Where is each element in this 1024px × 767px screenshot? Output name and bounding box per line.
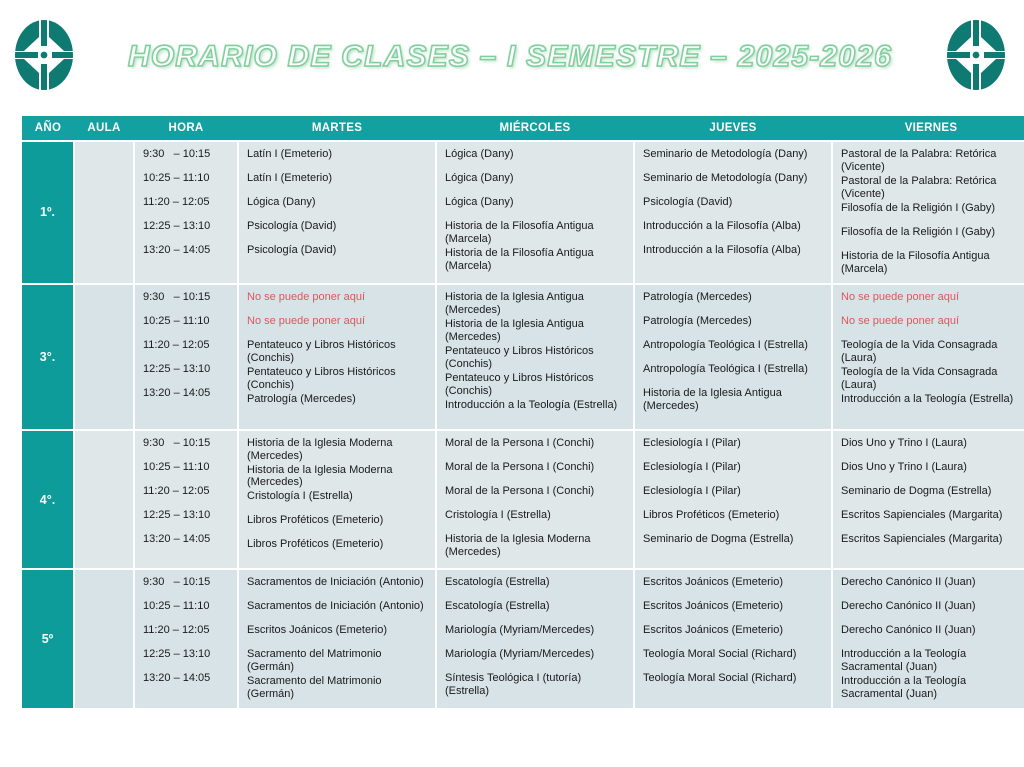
class-slot: Eclesiología I (Pilar) [643, 437, 825, 460]
class-slot: Introducción a la Teología Sacramental (… [841, 675, 1024, 701]
table-row: 4°.9:30 – 10:1510:25 – 11:1011:20 – 12:0… [22, 430, 1024, 570]
class-slot: Filosofía de la Religión I (Gaby) [841, 202, 1024, 225]
class-slot: Escritos Sapienciales (Margarita) [841, 533, 1024, 556]
class-slot: Libros Proféticos (Emeterio) [643, 509, 825, 532]
time-slot: 11:20 – 12:05 [143, 485, 231, 508]
class-slot: Teología Moral Social (Richard) [643, 648, 825, 671]
time-slot: 11:20 – 12:05 [143, 339, 231, 362]
class-slot: Introducción a la Teología (Estrella) [445, 399, 627, 422]
aula-cell [74, 569, 134, 709]
day-cell-martes: Latín I (Emeterio)Latín I (Emeterio)Lógi… [238, 141, 436, 284]
class-slot: Moral de la Persona I (Conchi) [445, 485, 627, 508]
class-slot: Seminario de Dogma (Estrella) [841, 485, 1024, 508]
time-slot: 10:25 – 11:10 [143, 461, 231, 484]
class-slot: Cristología I (Estrella) [445, 509, 627, 532]
class-slot: Síntesis Teológica I (tutoría) (Estrella… [445, 672, 627, 698]
class-slot: Historia de la Iglesia Antigua (Mercedes… [445, 291, 627, 317]
day-cell-viernes: No se puede poner aquíNo se puede poner … [832, 284, 1024, 430]
time-slot: 10:25 – 11:10 [143, 600, 231, 623]
day-cell-martes: No se puede poner aquíNo se puede poner … [238, 284, 436, 430]
class-slot: Psicología (David) [247, 220, 429, 243]
class-slot: Lógica (Dany) [445, 172, 627, 195]
class-slot: Escritos Joánicos (Emeterio) [643, 624, 825, 647]
year-label: 4°. [22, 430, 74, 570]
class-slot: Psicología (David) [247, 244, 429, 267]
time-slot: 12:25 – 13:10 [143, 363, 231, 386]
class-slot: Lógica (Dany) [445, 196, 627, 219]
column-header-aula: AULA [74, 116, 134, 141]
blocked-slot: No se puede poner aquí [841, 315, 1024, 338]
class-slot: Dios Uno y Trino I (Laura) [841, 437, 1024, 460]
day-cell-miercoles: Escatología (Estrella)Escatología (Estre… [436, 569, 634, 709]
class-slot: Historia de la Filosofía Antigua (Marcel… [445, 247, 627, 273]
time-slot: 12:25 – 13:10 [143, 509, 231, 532]
schedule-table: AÑO AULA HORA MARTES MIÉRCOLES JUEVES VI… [22, 116, 1024, 710]
class-slot: Escritos Joánicos (Emeterio) [643, 576, 825, 599]
institution-logo-left [12, 17, 76, 93]
class-slot: Historia de la Iglesia Antigua (Mercedes… [445, 318, 627, 344]
day-cell-miercoles: Lógica (Dany)Lógica (Dany)Lógica (Dany)H… [436, 141, 634, 284]
class-slot: Eclesiología I (Pilar) [643, 485, 825, 508]
class-slot: Historia de la Filosofía Antigua (Marcel… [445, 220, 627, 246]
day-cell-jueves: Escritos Joánicos (Emeterio)Escritos Joá… [634, 569, 832, 709]
time-slot: 13:20 – 14:05 [143, 672, 231, 695]
class-slot: Teología Moral Social (Richard) [643, 672, 825, 695]
year-label: 5º [22, 569, 74, 709]
time-cell: 9:30 – 10:1510:25 – 11:1011:20 – 12:0512… [134, 430, 238, 570]
class-slot: Libros Proféticos (Emeterio) [247, 514, 429, 537]
class-slot: Pentateuco y Libros Históricos (Conchis) [445, 372, 627, 398]
class-slot: Cristología I (Estrella) [247, 490, 429, 513]
class-slot: Psicología (David) [643, 196, 825, 219]
class-slot: Escatología (Estrella) [445, 600, 627, 623]
time-slot: 12:25 – 13:10 [143, 648, 231, 671]
class-slot: Patrología (Mercedes) [643, 315, 825, 338]
day-cell-miercoles: Historia de la Iglesia Antigua (Mercedes… [436, 284, 634, 430]
class-slot: Historia de la Iglesia Moderna (Mercedes… [247, 437, 429, 463]
time-cell: 9:30 – 10:1510:25 – 11:1011:20 – 12:0512… [134, 569, 238, 709]
column-header-hora: HORA [134, 116, 238, 141]
time-slot: 13:20 – 14:05 [143, 387, 231, 410]
column-header-ano: AÑO [22, 116, 74, 141]
time-slot: 11:20 – 12:05 [143, 196, 231, 219]
class-slot: Patrología (Mercedes) [247, 393, 429, 416]
class-slot: Lógica (Dany) [247, 196, 429, 219]
class-slot: Historia de la Iglesia Antigua (Mercedes… [643, 387, 825, 413]
class-slot: Teología de la Vida Consagrada (Laura) [841, 339, 1024, 365]
day-cell-jueves: Eclesiología I (Pilar)Eclesiología I (Pi… [634, 430, 832, 570]
time-slot: 10:25 – 11:10 [143, 315, 231, 338]
day-cell-viernes: Derecho Canónico II (Juan)Derecho Canóni… [832, 569, 1024, 709]
time-cell: 9:30 – 10:1510:25 – 11:1011:20 – 12:0512… [134, 284, 238, 430]
class-slot: Moral de la Persona I (Conchi) [445, 437, 627, 460]
class-slot: Latín I (Emeterio) [247, 172, 429, 195]
class-slot: Antropología Teológica I (Estrella) [643, 339, 825, 362]
time-slot: 9:30 – 10:15 [143, 291, 231, 314]
day-cell-martes: Sacramentos de Iniciación (Antonio)Sacra… [238, 569, 436, 709]
time-slot: 10:25 – 11:10 [143, 172, 231, 195]
class-slot: Dios Uno y Trino I (Laura) [841, 461, 1024, 484]
class-slot: Derecho Canónico II (Juan) [841, 624, 1024, 647]
class-slot: Seminario de Dogma (Estrella) [643, 533, 825, 556]
column-header-martes: MARTES [238, 116, 436, 141]
day-cell-viernes: Pastoral de la Palabra: Retórica (Vicent… [832, 141, 1024, 284]
class-slot: Latín I (Emeterio) [247, 148, 429, 171]
class-slot: Patrología (Mercedes) [643, 291, 825, 314]
day-cell-martes: Historia de la Iglesia Moderna (Mercedes… [238, 430, 436, 570]
class-slot: Pentateuco y Libros Históricos (Conchis) [445, 345, 627, 371]
column-header-miercoles: MIÉRCOLES [436, 116, 634, 141]
blocked-slot: No se puede poner aquí [247, 315, 429, 338]
class-slot: Seminario de Metodología (Dany) [643, 172, 825, 195]
aula-cell [74, 284, 134, 430]
class-slot: Sacramentos de Iniciación (Antonio) [247, 576, 429, 599]
class-slot: Sacramento del Matrimonio (Germán) [247, 648, 429, 674]
class-slot: Escritos Joánicos (Emeterio) [643, 600, 825, 623]
page-header: HORARIO DE CLASES – I SEMESTRE – 2025-20… [0, 0, 1024, 110]
year-label: 1º. [22, 141, 74, 284]
class-slot: Derecho Canónico II (Juan) [841, 600, 1024, 623]
class-slot: Introducción a la Teología (Estrella) [841, 393, 1024, 416]
class-slot: Pentateuco y Libros Históricos (Conchis) [247, 339, 429, 365]
time-cell: 9:30 – 10:1510:25 – 11:1011:20 – 12:0512… [134, 141, 238, 284]
year-label: 3°. [22, 284, 74, 430]
day-cell-jueves: Patrología (Mercedes)Patrología (Mercede… [634, 284, 832, 430]
class-slot: Historia de la Filosofía Antigua (Marcel… [841, 250, 1024, 276]
schedule-container: AÑO AULA HORA MARTES MIÉRCOLES JUEVES VI… [0, 110, 1024, 710]
class-slot: Pastoral de la Palabra: Retórica (Vicent… [841, 175, 1024, 201]
time-slot: 11:20 – 12:05 [143, 624, 231, 647]
aula-cell [74, 430, 134, 570]
page-title: HORARIO DE CLASES – I SEMESTRE – 2025-20… [128, 40, 892, 74]
class-slot: Lógica (Dany) [445, 148, 627, 171]
class-slot: Seminario de Metodología (Dany) [643, 148, 825, 171]
class-slot: Pentateuco y Libros Históricos (Conchis) [247, 366, 429, 392]
class-slot: Derecho Canónico II (Juan) [841, 576, 1024, 599]
class-slot: Mariología (Myriam/Mercedes) [445, 648, 627, 671]
table-row: 3°.9:30 – 10:1510:25 – 11:1011:20 – 12:0… [22, 284, 1024, 430]
class-slot: Pastoral de la Palabra: Retórica (Vicent… [841, 148, 1024, 174]
institution-logo-right [944, 17, 1008, 93]
class-slot: Sacramentos de Iniciación (Antonio) [247, 600, 429, 623]
table-row: 5º9:30 – 10:1510:25 – 11:1011:20 – 12:05… [22, 569, 1024, 709]
class-slot: Escatología (Estrella) [445, 576, 627, 599]
table-header-row: AÑO AULA HORA MARTES MIÉRCOLES JUEVES VI… [22, 116, 1024, 141]
blocked-slot: No se puede poner aquí [841, 291, 1024, 314]
time-slot: 9:30 – 10:15 [143, 576, 231, 599]
class-slot: Eclesiología I (Pilar) [643, 461, 825, 484]
class-slot: Introducción a la Filosofía (Alba) [643, 220, 825, 243]
class-slot: Historia de la Iglesia Moderna (Mercedes… [247, 464, 429, 490]
class-slot: Introducción a la Filosofía (Alba) [643, 244, 825, 267]
class-slot: Moral de la Persona I (Conchi) [445, 461, 627, 484]
class-slot: Libros Proféticos (Emeterio) [247, 538, 429, 561]
title-container: HORARIO DE CLASES – I SEMESTRE – 2025-20… [76, 36, 944, 74]
class-slot: Escritos Joánicos (Emeterio) [247, 624, 429, 647]
class-slot: Filosofía de la Religión I (Gaby) [841, 226, 1024, 249]
class-slot: Introducción a la Teología Sacramental (… [841, 648, 1024, 674]
class-slot: Antropología Teológica I (Estrella) [643, 363, 825, 386]
time-slot: 13:20 – 14:05 [143, 533, 231, 556]
time-slot: 12:25 – 13:10 [143, 220, 231, 243]
day-cell-viernes: Dios Uno y Trino I (Laura)Dios Uno y Tri… [832, 430, 1024, 570]
aula-cell [74, 141, 134, 284]
time-slot: 13:20 – 14:05 [143, 244, 231, 267]
blocked-slot: No se puede poner aquí [247, 291, 429, 314]
column-header-viernes: VIERNES [832, 116, 1024, 141]
table-row: 1º.9:30 – 10:1510:25 – 11:1011:20 – 12:0… [22, 141, 1024, 284]
class-slot: Escritos Sapienciales (Margarita) [841, 509, 1024, 532]
class-slot: Historia de la Iglesia Moderna (Mercedes… [445, 533, 627, 559]
class-slot: Sacramento del Matrimonio (Germán) [247, 675, 429, 701]
time-slot: 9:30 – 10:15 [143, 148, 231, 171]
day-cell-miercoles: Moral de la Persona I (Conchi)Moral de l… [436, 430, 634, 570]
table-body: 1º.9:30 – 10:1510:25 – 11:1011:20 – 12:0… [22, 141, 1024, 709]
class-slot: Teología de la Vida Consagrada (Laura) [841, 366, 1024, 392]
column-header-jueves: JUEVES [634, 116, 832, 141]
time-slot: 9:30 – 10:15 [143, 437, 231, 460]
class-slot: Mariología (Myriam/Mercedes) [445, 624, 627, 647]
table-header: AÑO AULA HORA MARTES MIÉRCOLES JUEVES VI… [22, 116, 1024, 141]
day-cell-jueves: Seminario de Metodología (Dany)Seminario… [634, 141, 832, 284]
